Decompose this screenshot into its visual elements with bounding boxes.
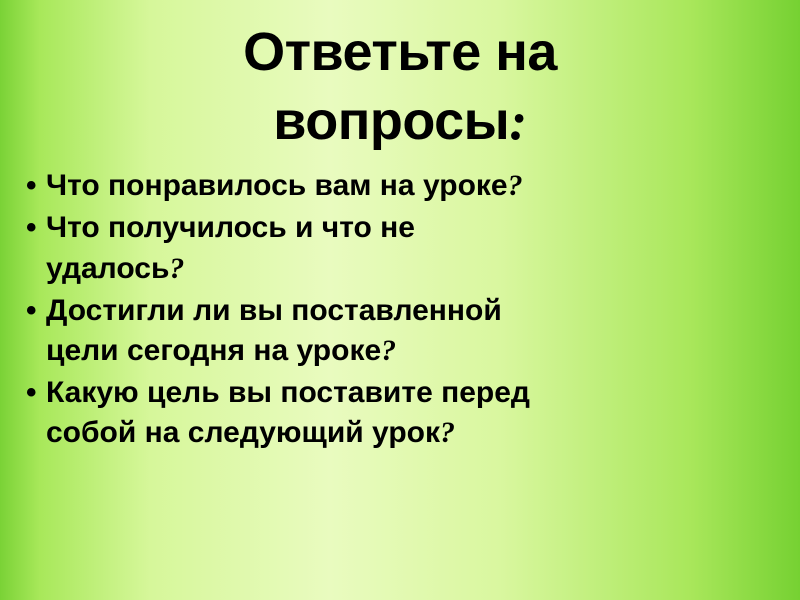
title-colon: : [509, 91, 526, 151]
list-item-line-2-wrap: собой на следующий урок? [46, 413, 790, 453]
list-item-line-2: цели сегодня на уроке [46, 334, 381, 367]
slide: Ответьте на вопросы: • Что понравилось в… [0, 0, 800, 600]
list-item-line-2-wrap: удалось? [46, 249, 790, 289]
list-item-line-2-wrap: цели сегодня на уроке? [46, 331, 790, 371]
list-item: • Что получилось и что не удалось? [26, 208, 790, 288]
question-mark: ? [381, 334, 396, 367]
question-mark: ? [440, 416, 455, 449]
bullet-icon: • [26, 166, 37, 206]
list-item-line-1: Какую цель вы поставите перед [46, 376, 530, 409]
title-line-2: вопросы: [0, 87, 800, 156]
title-text-1: Ответьте на [243, 22, 557, 82]
list-item-line-1: Что получилось и что не [46, 211, 415, 244]
list-item-line-1: Что понравилось вам на уроке [46, 169, 508, 202]
question-list: • Что понравилось вам на уроке? • Что по… [0, 166, 800, 453]
bullet-icon: • [26, 373, 37, 413]
question-mark: ? [169, 252, 184, 285]
list-item-line-1: Достигли ли вы поставленной [46, 294, 502, 327]
page-title: Ответьте на вопросы: [0, 0, 800, 156]
title-line-1: Ответьте на [0, 18, 800, 87]
bullet-icon: • [26, 208, 37, 248]
list-item: • Достигли ли вы поставленной цели сегод… [26, 291, 790, 371]
question-mark: ? [508, 169, 523, 202]
list-item: • Какую цель вы поставите перед собой на… [26, 373, 790, 453]
list-item: • Что понравилось вам на уроке? [26, 166, 790, 206]
list-item-line-2: собой на следующий урок [46, 416, 440, 449]
title-text-2: вопросы [273, 91, 509, 151]
bullet-icon: • [26, 291, 37, 331]
list-item-line-2: удалось [46, 252, 169, 285]
